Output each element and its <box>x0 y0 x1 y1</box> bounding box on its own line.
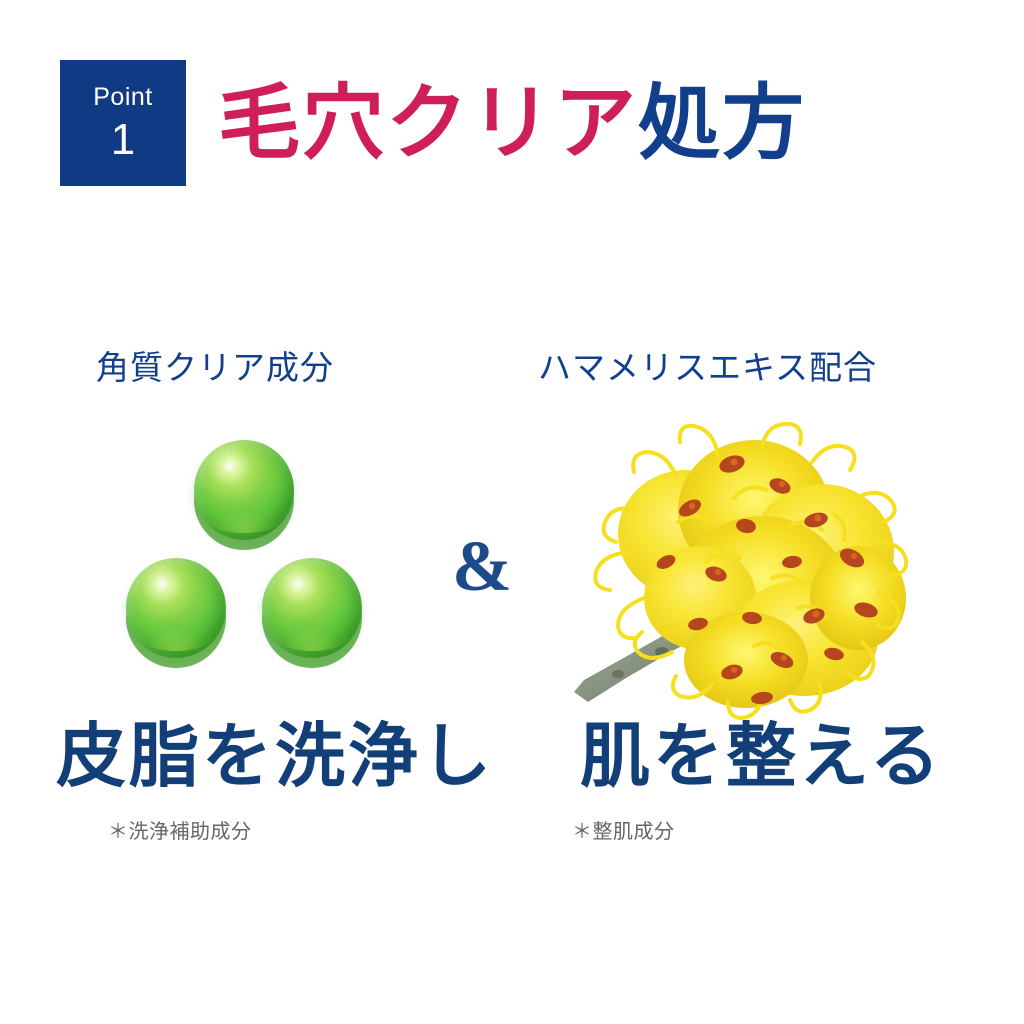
point-badge-number: 1 <box>111 118 135 162</box>
left-column-heading: 角質クリア成分 <box>96 348 334 388</box>
page-title-navy: 処方 <box>638 83 806 165</box>
page-title-accent: 毛穴クリア <box>218 83 638 165</box>
green-bead-top <box>194 440 294 540</box>
flower-petal-mass <box>618 440 906 708</box>
point-badge: Point 1 <box>60 60 186 186</box>
point-badge-word: Point <box>93 85 152 110</box>
right-column-heading: ハマメリスエキス配合 <box>538 348 877 388</box>
green-bead-left <box>126 558 226 658</box>
page-title: 毛穴クリア処方 <box>218 74 806 174</box>
ampersand-connector: & <box>452 530 512 602</box>
green-beads-group <box>118 440 370 660</box>
left-headline: 皮脂を洗浄し <box>56 718 494 799</box>
right-footnote: ＊整肌成分 <box>572 820 675 844</box>
infographic-page: Point 1 毛穴クリア処方 角質クリア成分 ハマメリスエキス配合 & <box>0 0 1024 1024</box>
right-headline: 肌を整える <box>580 718 943 799</box>
left-footnote: ＊洗浄補助成分 <box>108 820 252 844</box>
witch-hazel-flower-image <box>566 402 910 720</box>
green-bead-right <box>262 558 362 658</box>
